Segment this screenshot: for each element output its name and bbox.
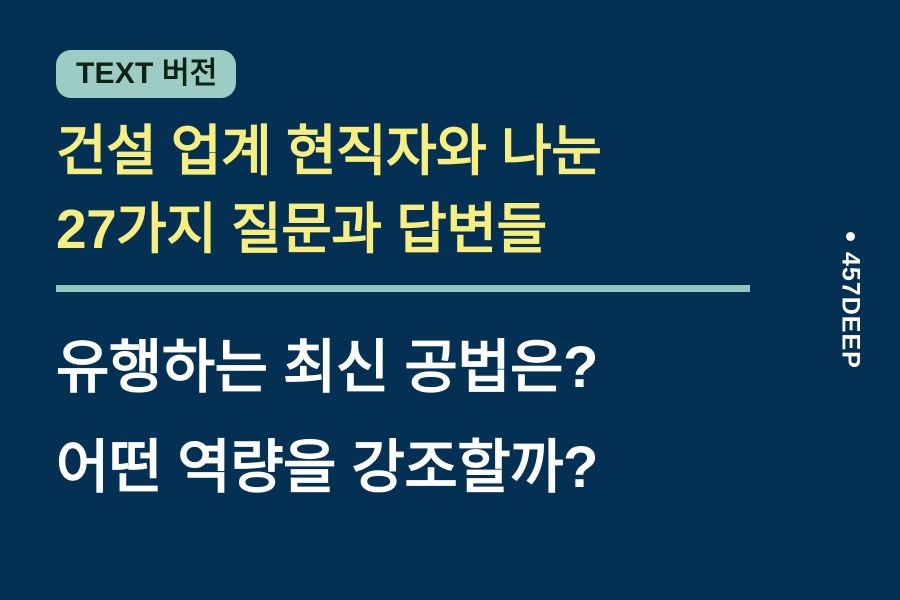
primary-headline: 건설 업계 현직자와 나눈 27가지 질문과 답변들 [56,112,816,268]
content-column: TEXT 버전 건설 업계 현직자와 나눈 27가지 질문과 답변들 유행하는 … [56,0,816,600]
secondary-headline: 유행하는 최신 공법은? 어떤 역량을 강조할까? [56,318,816,518]
section-divider [56,285,750,292]
primary-headline-line-2: 27가지 질문과 답변들 [56,190,816,268]
bullet-dot-icon [846,232,855,241]
primary-headline-line-1: 건설 업계 현직자와 나눈 [56,112,816,190]
secondary-headline-line-2: 어떤 역량을 강조할까? [56,418,816,518]
badge-label: TEXT 버전 [76,59,218,89]
brand-mark: 457DEEP [830,232,870,369]
text-version-badge: TEXT 버전 [56,50,236,98]
brand-name-vertical: 457DEEP [838,252,863,369]
poster-canvas: TEXT 버전 건설 업계 현직자와 나눈 27가지 질문과 답변들 유행하는 … [0,0,900,600]
secondary-headline-line-1: 유행하는 최신 공법은? [56,318,816,418]
